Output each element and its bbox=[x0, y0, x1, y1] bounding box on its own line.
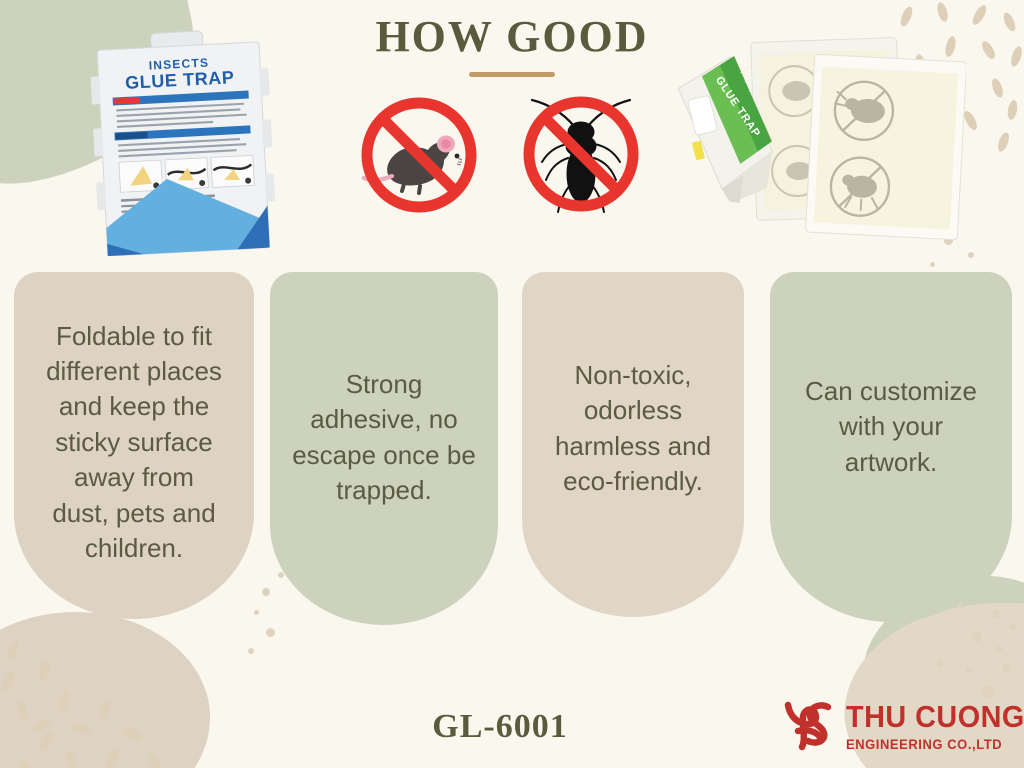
product-code: GL-6001 bbox=[330, 708, 670, 746]
infographic-canvas: HOW GOOD INSECTS GLUE TRAP bbox=[0, 0, 1024, 768]
no-mouse-icon bbox=[358, 94, 480, 216]
feature-cards: Foldable to fit different places and kee… bbox=[0, 272, 1024, 632]
feature-card-foldable: Foldable to fit different places and kee… bbox=[14, 272, 254, 619]
feature-card-customize-text: Can customize with your artwork. bbox=[791, 374, 991, 480]
feature-card-adhesive: Strong adhesive, no escape once be trapp… bbox=[270, 272, 498, 625]
logo-text-block: THU CUONG ENGINEERING CO.,LTD bbox=[846, 701, 1024, 752]
feature-card-non-toxic: Non-toxic, odorless harmless and eco-fri… bbox=[522, 272, 744, 617]
feature-card-non-toxic-text: Non-toxic, odorless harmless and eco-fri… bbox=[541, 358, 725, 499]
no-cockroach-icon bbox=[518, 88, 644, 218]
company-subtitle: ENGINEERING CO.,LTD bbox=[846, 738, 1024, 752]
glue-trap-box-and-pads-photo: GLUE TRAP bbox=[676, 28, 966, 254]
company-logo: THU CUONG ENGINEERING CO.,LTD bbox=[778, 694, 1016, 758]
feature-card-adhesive-text: Strong adhesive, no escape once be trapp… bbox=[278, 367, 490, 508]
thu-cuong-logo-mark-icon bbox=[778, 697, 840, 755]
title-underline-rule bbox=[469, 72, 555, 77]
feature-card-customize: Can customize with your artwork. bbox=[770, 272, 1012, 622]
feature-card-foldable-text: Foldable to fit different places and kee… bbox=[32, 319, 236, 567]
glue-trap-flat-package-photo: INSECTS GLUE TRAP bbox=[80, 28, 285, 256]
company-name: THU CUONG bbox=[846, 701, 1024, 732]
decor-blob-bottom-left bbox=[0, 612, 210, 768]
